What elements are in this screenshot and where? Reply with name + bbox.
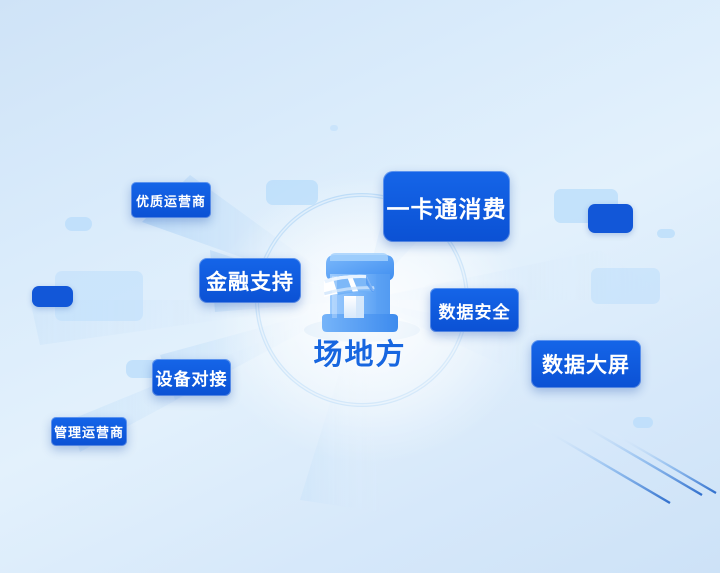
decoration-rect [330, 125, 338, 131]
decoration-rect [32, 286, 73, 307]
decoration-rect [266, 180, 318, 205]
storefront-3d-icon [300, 240, 420, 345]
decoration-rect [591, 268, 660, 304]
decoration-rect [65, 217, 92, 231]
node-tag-node-3[interactable]: 一卡通消费 [383, 171, 510, 242]
node-tag-node-5[interactable]: 数据大屏 [531, 340, 641, 388]
node-tag-node-4[interactable]: 数据安全 [430, 288, 519, 332]
accent-streaks [520, 403, 720, 513]
infographic-canvas: 场地方 优质运营商金融支持一卡通消费数据安全数据大屏设备对接管理运营商 [0, 0, 720, 573]
node-tag-node-6[interactable]: 设备对接 [152, 359, 231, 396]
center-label: 场地方 [280, 331, 440, 373]
decoration-rect [588, 204, 633, 233]
node-tag-node-7[interactable]: 管理运营商 [51, 417, 127, 446]
node-tag-node-2[interactable]: 金融支持 [199, 258, 301, 303]
node-tag-node-1[interactable]: 优质运营商 [131, 182, 211, 218]
decoration-rect [657, 229, 675, 238]
